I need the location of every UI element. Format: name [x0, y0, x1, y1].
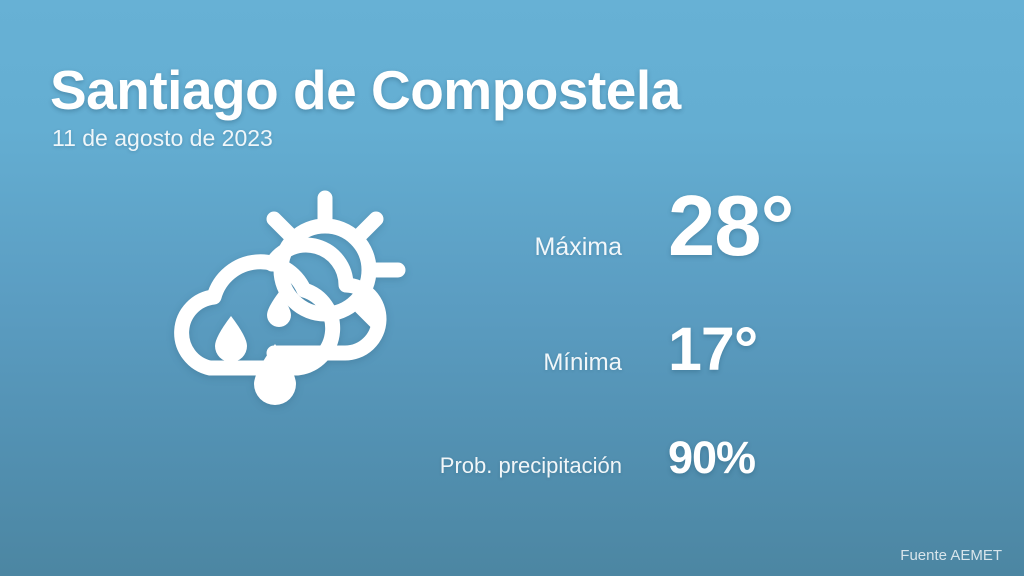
- reading-row-precipitation: Prob. precipitación 90%: [420, 432, 940, 484]
- reading-label-precipitation: Prob. precipitación: [420, 453, 668, 479]
- readings-list: Máxima 28° Mínima 17° Prob. precipitació…: [420, 178, 940, 484]
- reading-value-minima: 17°: [668, 314, 757, 384]
- reading-value-precipitation: 90%: [668, 432, 755, 484]
- reading-value-maxima: 28°: [668, 178, 794, 276]
- forecast-date: 11 de agosto de 2023: [52, 125, 950, 153]
- sun-behind-rain-cloud-icon: [148, 186, 420, 426]
- reading-label-minima: Mínima: [420, 349, 668, 377]
- reading-label-maxima: Máxima: [420, 233, 668, 262]
- weather-card: Santiago de Compostela 11 de agosto de 2…: [0, 0, 1024, 576]
- source-attribution: Fuente AEMET: [900, 547, 1002, 564]
- city-name: Santiago de Compostela: [50, 62, 950, 119]
- reading-row-maxima: Máxima 28°: [420, 178, 940, 314]
- reading-row-minima: Mínima 17°: [420, 314, 940, 432]
- card-header: Santiago de Compostela 11 de agosto de 2…: [50, 62, 950, 153]
